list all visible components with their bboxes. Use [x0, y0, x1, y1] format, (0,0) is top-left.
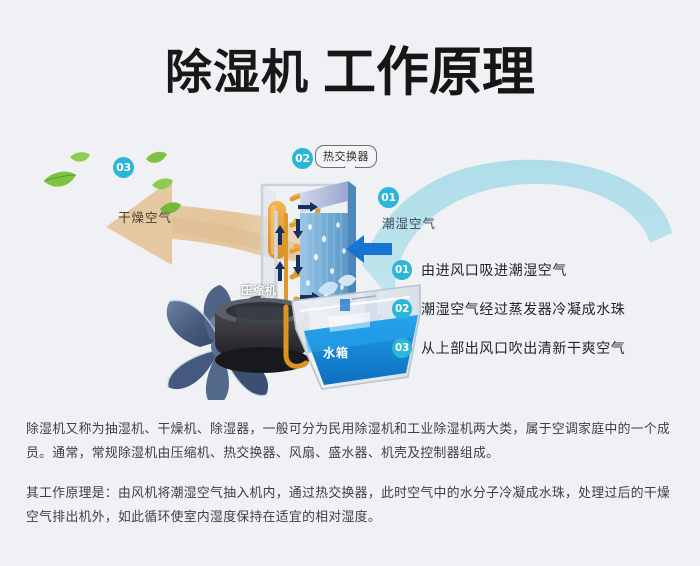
page-title-secondary: 工作原理	[323, 42, 535, 103]
badge-dry-air: 03	[113, 157, 134, 178]
label-humid-air: 潮湿空气	[382, 213, 436, 232]
step-list: 01 由进风口吸进潮湿空气 02 潮湿空气经过蒸发器冷凝成水珠 03 从上部出风…	[392, 250, 682, 367]
description-paragraph-2: 其工作原理是：由风机将潮湿空气抽入机内，通过热交换器，此时空气中的水分子冷凝成水…	[26, 482, 678, 530]
badge-humid-air: 01	[378, 187, 399, 208]
label-water-tank: 水箱	[323, 344, 349, 361]
page-title: 除湿机工作原理	[0, 30, 700, 106]
description-paragraph-1: 除湿机又称为抽湿机、干燥机、除湿器，一般可分为民用除湿机和工业除湿机两大类，属于…	[26, 418, 678, 466]
step-text-1: 由进风口吸进潮湿空气	[421, 260, 567, 280]
page-title-primary: 除湿机	[165, 46, 309, 101]
step-text-3: 从上部出风口吹出清新干爽空气	[421, 338, 625, 358]
badge-heat-exchanger: 02	[292, 148, 313, 169]
step-badge-1: 01	[392, 260, 412, 280]
step-text-2: 潮湿空气经过蒸发器冷凝成水珠	[421, 299, 625, 319]
step-item-1: 01 由进风口吸进潮湿空气	[392, 250, 682, 289]
description-block: 除湿机又称为抽湿机、干燥机、除湿器，一般可分为民用除湿机和工业除湿机两大类，属于…	[26, 418, 678, 530]
label-dry-air: 干燥空气	[118, 207, 172, 226]
step-item-2: 02 潮湿空气经过蒸发器冷凝成水珠	[392, 289, 682, 328]
label-compressor: 压缩机	[241, 282, 277, 298]
callout-heat-exchanger: 热交换器	[315, 145, 377, 168]
step-item-3: 03 从上部出风口吹出清新干爽空气	[392, 328, 682, 367]
step-badge-3: 03	[392, 338, 412, 358]
step-badge-2: 02	[392, 299, 412, 319]
